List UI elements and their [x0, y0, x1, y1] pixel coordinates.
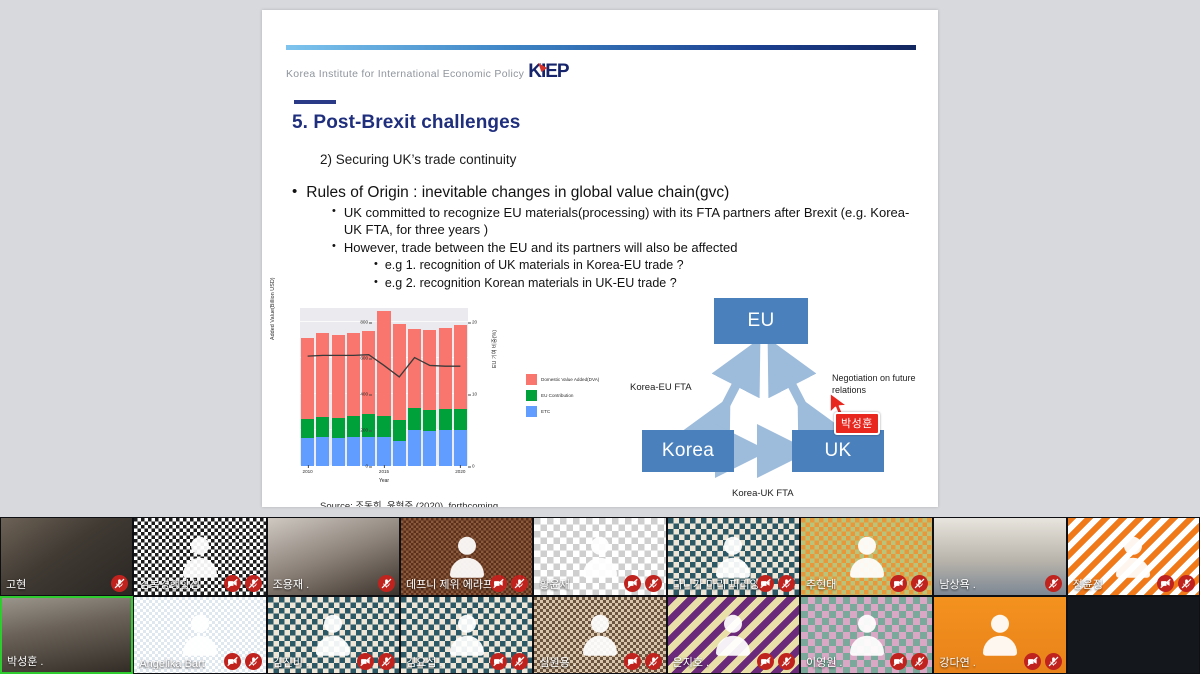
avatar-body [450, 557, 484, 577]
avatar-body [183, 636, 217, 656]
bullet-level1: • Rules of Origin : inevitable changes i… [292, 184, 922, 202]
avatar-head [591, 536, 609, 554]
bullet-level2-b: • However, trade between the EU and its … [332, 239, 922, 256]
participant-status-badges [490, 575, 528, 592]
chart-legend-swatch [526, 374, 537, 385]
mic-off-icon [378, 653, 395, 670]
avatar-head [858, 536, 876, 554]
meeting-screen-share-view: Korea Institute for International Econom… [0, 0, 1200, 674]
participant-tile[interactable]: Angelika Bart [133, 596, 266, 674]
participant-tile [1067, 596, 1200, 674]
chart-legend-item: Domestic Value Added(DVA) [526, 374, 599, 385]
avatar [578, 615, 622, 659]
kiep-header-rule [286, 45, 916, 50]
avatar-head [458, 615, 476, 633]
chart-plot-area [300, 308, 468, 466]
mic-off-icon [1178, 575, 1195, 592]
chart-line-series [300, 308, 468, 466]
mic-off-icon [1045, 653, 1062, 670]
mic-off-icon [511, 653, 528, 670]
shared-screen-stage: Korea Institute for International Econom… [0, 0, 1200, 515]
avatar [978, 615, 1022, 659]
camera-off-icon [224, 575, 241, 592]
avatar [711, 615, 755, 659]
participant-status-badges [357, 653, 395, 670]
participant-name-label: 정윤정 [1073, 576, 1103, 592]
participant-status-badges [757, 575, 795, 592]
participant-status-badges [890, 575, 928, 592]
chart-y-tick-label: 200 [360, 428, 368, 433]
mic-off-icon [778, 575, 795, 592]
mic-off-icon [645, 653, 662, 670]
mic-off-icon [911, 575, 928, 592]
avatar-head [191, 536, 209, 554]
participant-tile[interactable]: 강다연 . [933, 596, 1066, 674]
participant-tile[interactable]: 김진비 . [267, 596, 400, 674]
avatar [578, 536, 622, 580]
avatar-head [458, 536, 476, 554]
chart-legend-swatch [526, 406, 537, 417]
participant-tile[interactable]: 은지호 . [667, 596, 800, 674]
avatar [445, 536, 489, 580]
mic-off-icon [245, 653, 262, 670]
presentation-slide: Korea Institute for International Econom… [262, 10, 938, 507]
avatar-head [324, 615, 342, 633]
diagram-label-korea-eu-fta: Korea-EU FTA [630, 382, 692, 393]
stacked-bar-chart: Added Value(Billion USD) EU 기여 비중(%) 020… [268, 302, 538, 507]
chart-y-tick-label: 600 [360, 356, 368, 361]
diagram-node-korea-label: Korea [662, 440, 714, 462]
kiep-logo: KIEP [528, 62, 568, 81]
avatar-body [716, 557, 750, 577]
chart-x-tick-label: 2015 [379, 469, 389, 474]
avatar-body [583, 636, 617, 656]
camera-off-icon [890, 575, 907, 592]
diagram-node-eu-label: EU [748, 310, 775, 332]
participant-status-badges [624, 575, 662, 592]
chart-y2-tick-label: 10 [472, 392, 477, 397]
participant-name-label: 추현태 [806, 576, 836, 592]
participant-tile[interactable]: 정윤정 [1067, 517, 1200, 596]
avatar [1111, 536, 1155, 580]
mic-off-icon [111, 575, 128, 592]
participant-tile[interactable]: 추현태 [800, 517, 933, 596]
participant-name-label: 심원용 . [539, 654, 575, 670]
avatar-head [858, 615, 876, 633]
slide-subheading: 2) Securing UK’s trade continuity [320, 152, 516, 167]
avatar [845, 536, 889, 580]
slide-bullet-list: • Rules of Origin : inevitable changes i… [292, 184, 922, 293]
chart-y-tick-label: 0 [365, 464, 368, 469]
participant-name-label: 데프니 제위 에라프라 [406, 576, 502, 592]
mic-off-icon [645, 575, 662, 592]
participant-name-label: 김요섭 . [406, 654, 442, 670]
participant-status-badges [224, 653, 262, 670]
camera-off-icon [890, 653, 907, 670]
participant-tile[interactable]: 황윤재 [533, 517, 666, 596]
mic-off-icon [1045, 575, 1062, 592]
avatar-body [850, 636, 884, 656]
participant-name-label: 조용재 . [273, 576, 309, 592]
chart-legend-label: ETC [541, 409, 550, 414]
chart-x-tick-label: 2010 [303, 469, 313, 474]
camera-off-icon [224, 653, 241, 670]
participant-tile[interactable]: 김복경행항점 [133, 517, 266, 596]
participant-tile[interactable]: 심원용 . [533, 596, 666, 674]
avatar-body [1116, 557, 1150, 577]
participant-status-badges [624, 653, 662, 670]
chart-legend-label: EU Contribution [541, 393, 573, 398]
participant-name-label: 박성훈 . [7, 653, 43, 669]
diagram-node-eu: EU [714, 298, 808, 344]
avatar [845, 615, 889, 659]
chart-y-tick-label: 800 [360, 320, 368, 325]
participant-tile[interactable]: 이영원 . [800, 596, 933, 674]
avatar [711, 536, 755, 580]
avatar [178, 536, 222, 580]
chart-legend-label: Domestic Value Added(DVA) [541, 377, 599, 382]
participant-status-badges [224, 575, 262, 592]
camera-off-icon [757, 575, 774, 592]
chart-x-tick-label: 2020 [455, 469, 465, 474]
bullet-level2-b-text: However, trade between the EU and its pa… [344, 239, 738, 256]
avatar [445, 615, 489, 659]
mic-off-icon [511, 575, 528, 592]
bullet-marker-icon: • [374, 257, 378, 274]
participant-name-label: 강다연 . [939, 654, 975, 670]
chart-legend-item: EU Contribution [526, 390, 599, 401]
diagram-node-uk: UK [792, 430, 884, 472]
avatar-head [724, 536, 742, 554]
camera-off-icon [490, 653, 507, 670]
mic-off-icon [378, 575, 395, 592]
avatar-body [316, 636, 350, 656]
avatar-head [191, 615, 209, 633]
participant-name-label: 김진비 . [273, 654, 309, 670]
kiep-logo-text: KIEP [528, 61, 568, 82]
participant-status-badges [757, 653, 795, 670]
participant-status-badges [111, 575, 128, 592]
bullet-level2-a: • UK committed to recognize EU materials… [332, 204, 922, 238]
title-accent-dash [294, 100, 336, 104]
participant-name-label: 다니가 마리 피리앙드 [673, 576, 769, 592]
bullet-marker-icon: • [332, 239, 336, 256]
camera-off-icon [357, 653, 374, 670]
participant-name-label: 황윤재 [539, 576, 569, 592]
participant-video-grid: 고현김복경행항점조용재 .데프니 제위 에라프라황윤재다니가 마리 피리앙드추현… [0, 517, 1200, 674]
participant-name-label: 고현 [6, 576, 26, 592]
camera-off-icon [1157, 575, 1174, 592]
chart-y2-tick-label: 0 [472, 464, 475, 469]
avatar-body [850, 557, 884, 577]
bullet-marker-icon: • [292, 184, 297, 202]
bullet-level3-a: • e.g 1. recognition of UK materials in … [374, 257, 922, 274]
avatar [178, 615, 222, 659]
avatar-body [450, 636, 484, 656]
participant-status-badges [378, 575, 395, 592]
bullet-marker-icon: • [374, 275, 378, 292]
camera-off-icon [624, 653, 641, 670]
participant-name-label: 은지호 . [673, 654, 709, 670]
participant-name-label: 김복경행항점 [139, 576, 200, 592]
avatar-body [716, 636, 750, 656]
mic-off-icon [245, 575, 262, 592]
camera-off-icon [490, 575, 507, 592]
diagram-node-uk-label: UK [825, 440, 852, 462]
fta-relationship-diagram: EU Korea UK Korea-EU FTA Korea-UK FTA Ne… [614, 288, 934, 507]
chart-source-note: Source: 조동희, 윤형준 (2020), forthcoming [320, 498, 498, 507]
avatar-head [991, 615, 1009, 633]
kiep-institute-name: Korea Institute for International Econom… [286, 68, 524, 80]
avatar-head [1124, 536, 1142, 554]
camera-off-icon [757, 653, 774, 670]
avatar-body [183, 557, 217, 577]
participant-status-badges [1024, 653, 1062, 670]
participant-tile[interactable]: 데프니 제위 에라프라 [400, 517, 533, 596]
chart-y2-axis-label: EU 기여 비중(%) [490, 330, 498, 368]
participant-name-label: 이영원 . [806, 654, 842, 670]
kiep-branding: Korea Institute for International Econom… [286, 62, 569, 81]
avatar-body [983, 636, 1017, 656]
remote-cursor-name-tag: 박성훈 [834, 412, 880, 435]
participant-tile[interactable]: 남상욕 . [933, 517, 1066, 596]
chart-legend-item: ETC [526, 406, 599, 417]
mic-off-icon [911, 653, 928, 670]
participant-tile[interactable]: 고현 [0, 517, 133, 596]
page-title: 5. Post-Brexit challenges [292, 112, 520, 134]
participant-tile[interactable]: 박성훈 . [0, 596, 133, 674]
avatar-head [724, 615, 742, 633]
bullet-marker-icon: • [332, 204, 336, 238]
chart-legend-swatch [526, 390, 537, 401]
avatar-head [591, 615, 609, 633]
participant-name-label: Angelika Bart [139, 658, 204, 670]
avatar-body [583, 557, 617, 577]
participant-name-label: 남상욕 . [939, 576, 975, 592]
diagram-node-korea: Korea [642, 430, 734, 472]
participant-status-badges [1045, 575, 1062, 592]
chart-legend: Domestic Value Added(DVA)EU Contribution… [526, 374, 599, 422]
chart-x-axis-label: Year [379, 478, 389, 484]
bullet-level3-a-text: e.g 1. recognition of UK materials in Ko… [385, 257, 684, 274]
participant-tile[interactable]: 김요섭 . [400, 596, 533, 674]
bullet-level1-text: Rules of Origin : inevitable changes in … [306, 184, 729, 202]
participant-status-badges [890, 653, 928, 670]
avatar [311, 615, 355, 659]
participant-status-badges [490, 653, 528, 670]
bullet-level2-a-text: UK committed to recognize EU materials(p… [344, 204, 922, 238]
chart-y-tick-label: 400 [360, 392, 368, 397]
camera-off-icon [624, 575, 641, 592]
participant-status-badges [1157, 575, 1195, 592]
participant-video-feed [1068, 597, 1199, 673]
chart-y2-tick-label: 20 [472, 320, 477, 325]
participant-tile[interactable]: 다니가 마리 피리앙드 [667, 517, 800, 596]
diagram-label-korea-uk-fta: Korea-UK FTA [732, 488, 794, 499]
mic-off-icon [778, 653, 795, 670]
participant-tile[interactable]: 조용재 . [267, 517, 400, 596]
chart-y-axis-label: Added Value(Billion USD) [270, 277, 276, 340]
camera-off-icon [1024, 653, 1041, 670]
